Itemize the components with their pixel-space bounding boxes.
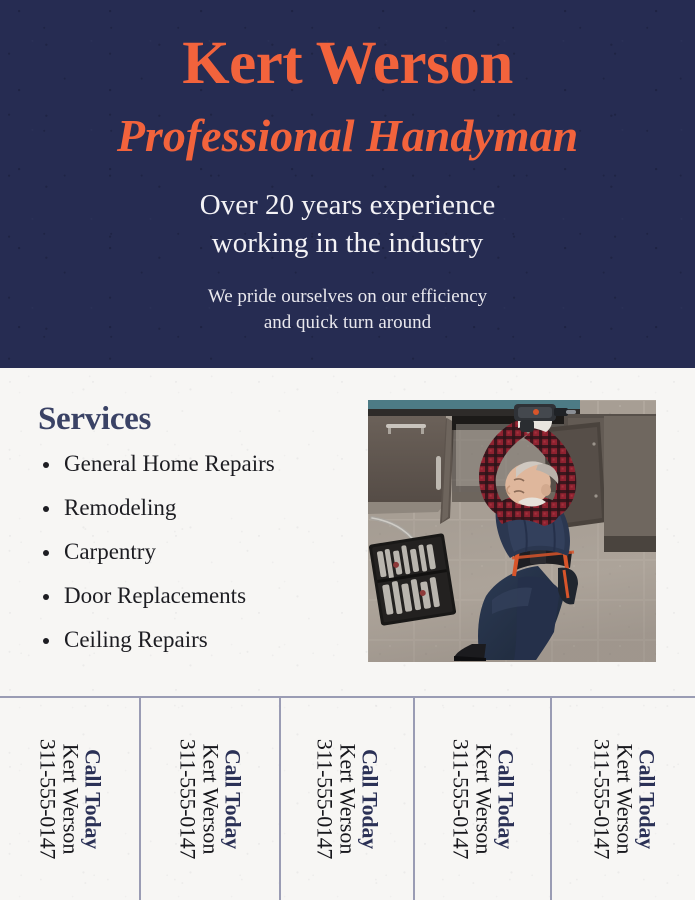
tear-off-tab[interactable]: Call Today Kert Werson 311-555-0147	[141, 698, 281, 900]
flyer-header: Kert Werson Professional Handyman Over 2…	[0, 0, 695, 368]
bullet-icon	[43, 462, 49, 468]
tear-off-phone: 311-555-0147	[36, 706, 58, 892]
experience-tagline: Over 20 years experience working in the …	[0, 186, 695, 263]
bullet-icon	[43, 506, 49, 512]
tear-off-name: Kert Werson	[336, 706, 358, 892]
handyman-photo	[368, 400, 656, 662]
tear-off-tab-content: Call Today Kert Werson 311-555-0147	[313, 706, 380, 892]
business-tagline-subtitle: Professional Handyman	[0, 110, 695, 163]
tear-off-call-label: Call Today	[81, 706, 103, 892]
list-item: Remodeling	[38, 496, 348, 519]
tear-off-phone: 311-555-0147	[313, 706, 335, 892]
tear-off-tab[interactable]: Call Today Kert Werson 311-555-0147	[552, 698, 695, 900]
tear-off-tab-content: Call Today Kert Werson 311-555-0147	[176, 706, 243, 892]
bullet-icon	[43, 638, 49, 644]
tear-off-name: Kert Werson	[199, 706, 221, 892]
list-item: Ceiling Repairs	[38, 628, 348, 651]
tear-off-tab[interactable]: Call Today Kert Werson 311-555-0147	[281, 698, 415, 900]
services-heading: Services	[38, 401, 151, 438]
tear-off-name: Kert Werson	[471, 706, 493, 892]
service-label: Remodeling	[64, 495, 176, 520]
efficiency-subtagline-line-1: We pride ourselves on our efficiency	[208, 286, 487, 307]
list-item: General Home Repairs	[38, 452, 348, 475]
service-label: Door Replacements	[64, 583, 246, 608]
tear-off-tabs: Call Today Kert Werson 311-555-0147 Call…	[0, 698, 695, 900]
experience-tagline-line-2: working in the industry	[212, 227, 483, 259]
efficiency-subtagline: We pride ourselves on our efficiency and…	[0, 284, 695, 336]
efficiency-subtagline-line-2: and quick turn around	[264, 312, 431, 333]
tear-off-call-label: Call Today	[358, 706, 380, 892]
tear-off-call-label: Call Today	[494, 706, 516, 892]
tear-off-phone: 311-555-0147	[449, 706, 471, 892]
service-label: Carpentry	[64, 539, 156, 564]
tear-off-tab-content: Call Today Kert Werson 311-555-0147	[590, 706, 657, 892]
experience-tagline-line-1: Over 20 years experience	[200, 189, 495, 221]
list-item: Carpentry	[38, 540, 348, 563]
handyman-flyer: Kert Werson Professional Handyman Over 2…	[0, 0, 695, 900]
tear-off-phone: 311-555-0147	[590, 706, 612, 892]
tear-off-tab[interactable]: Call Today Kert Werson 311-555-0147	[0, 698, 141, 900]
service-label: Ceiling Repairs	[64, 627, 208, 652]
tear-off-call-label: Call Today	[635, 706, 657, 892]
tear-off-tab[interactable]: Call Today Kert Werson 311-555-0147	[415, 698, 552, 900]
services-list: General Home Repairs Remodeling Carpentr…	[38, 452, 348, 672]
tear-off-tab-content: Call Today Kert Werson 311-555-0147	[36, 706, 103, 892]
service-label: General Home Repairs	[64, 451, 275, 476]
tear-off-phone: 311-555-0147	[176, 706, 198, 892]
bullet-icon	[43, 594, 49, 600]
bullet-icon	[43, 550, 49, 556]
tear-off-call-label: Call Today	[221, 706, 243, 892]
tear-off-name: Kert Werson	[58, 706, 80, 892]
list-item: Door Replacements	[38, 584, 348, 607]
tear-off-tab-content: Call Today Kert Werson 311-555-0147	[449, 706, 516, 892]
tear-off-name: Kert Werson	[612, 706, 634, 892]
business-name-title: Kert Werson	[0, 31, 695, 97]
